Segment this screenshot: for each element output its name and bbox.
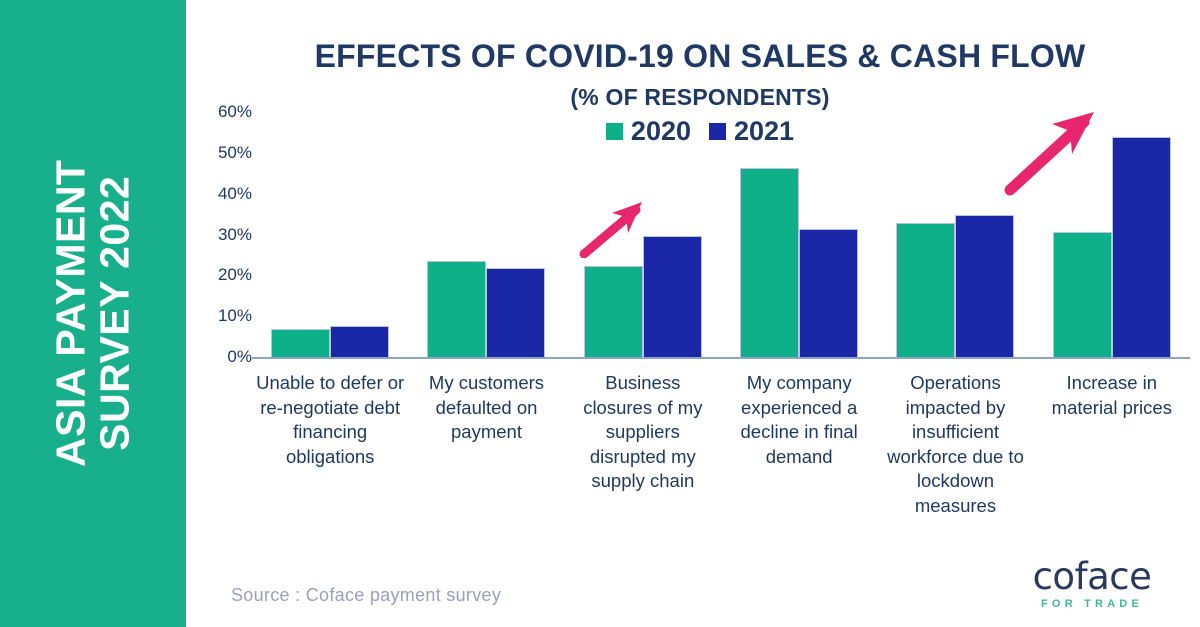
category-label: Operations impacted by insufficient work… [877, 371, 1033, 519]
category-label: Increase in material prices [1034, 371, 1190, 420]
bar-2021[interactable] [330, 326, 389, 357]
bar-2020[interactable] [427, 261, 486, 357]
coface-logo-tagline: FOR TRADE [1012, 599, 1172, 610]
bar-2021[interactable] [486, 268, 545, 357]
category-label: My customers defaulted on payment [408, 371, 564, 445]
category-label: Unable to defer or re-negotiate debt fin… [252, 371, 408, 469]
y-axis-tick-label: 30% [196, 225, 252, 245]
category-label: Business closures of my suppliers disrup… [565, 371, 721, 494]
bar-group [565, 112, 721, 357]
bar-2020[interactable] [896, 223, 955, 357]
y-axis-tick-label: 10% [196, 306, 252, 326]
bar-group [1034, 112, 1190, 357]
category-label: My company experienced a decline in fina… [721, 371, 877, 469]
coface-logo-wordmark: coface [1012, 558, 1172, 595]
bar-group [721, 112, 877, 357]
bar-2020[interactable] [740, 168, 799, 357]
bar-2021[interactable] [955, 215, 1014, 357]
y-axis: 60%50%40%30%20%10%0% [196, 112, 252, 357]
infographic-page: ASIA PAYMENT SURVEY 2022 EFFECTS OF COVI… [0, 0, 1200, 627]
y-axis-tick-label: 50% [196, 143, 252, 163]
y-axis-tick-label: 60% [196, 102, 252, 122]
y-axis-tick-label: 40% [196, 184, 252, 204]
chart-subtitle: (% OF RESPONDENTS) [200, 84, 1200, 111]
category-labels: Unable to defer or re-negotiate debt fin… [252, 371, 1190, 519]
bar-2020[interactable] [1053, 232, 1112, 357]
x-axis-line [252, 357, 1190, 359]
plot-area [252, 112, 1190, 357]
sidebar-title-line1: ASIA PAYMENT [48, 160, 94, 467]
bar-group [408, 112, 564, 357]
sidebar-text-wrapper: ASIA PAYMENT SURVEY 2022 [0, 0, 186, 627]
bar-2020[interactable] [271, 329, 330, 357]
y-axis-tick-label: 20% [196, 265, 252, 285]
chart-title: EFFECTS OF COVID-19 ON SALES & CASH FLOW [200, 38, 1200, 75]
bar-2021[interactable] [643, 236, 702, 357]
bar-2020[interactable] [584, 266, 643, 357]
y-axis-tick-label: 0% [196, 347, 252, 367]
sidebar-title-line2: SURVEY 2022 [93, 160, 137, 467]
sidebar-title: ASIA PAYMENT SURVEY 2022 [49, 160, 138, 467]
coface-logo: coface FOR TRADE [1012, 558, 1172, 610]
bar-groups [252, 112, 1190, 357]
bar-group [877, 112, 1033, 357]
bar-2021[interactable] [799, 229, 858, 357]
bar-2021[interactable] [1112, 137, 1171, 358]
sidebar-banner: ASIA PAYMENT SURVEY 2022 [0, 0, 186, 627]
bar-group [252, 112, 408, 357]
source-note: Source : Coface payment survey [231, 585, 501, 606]
